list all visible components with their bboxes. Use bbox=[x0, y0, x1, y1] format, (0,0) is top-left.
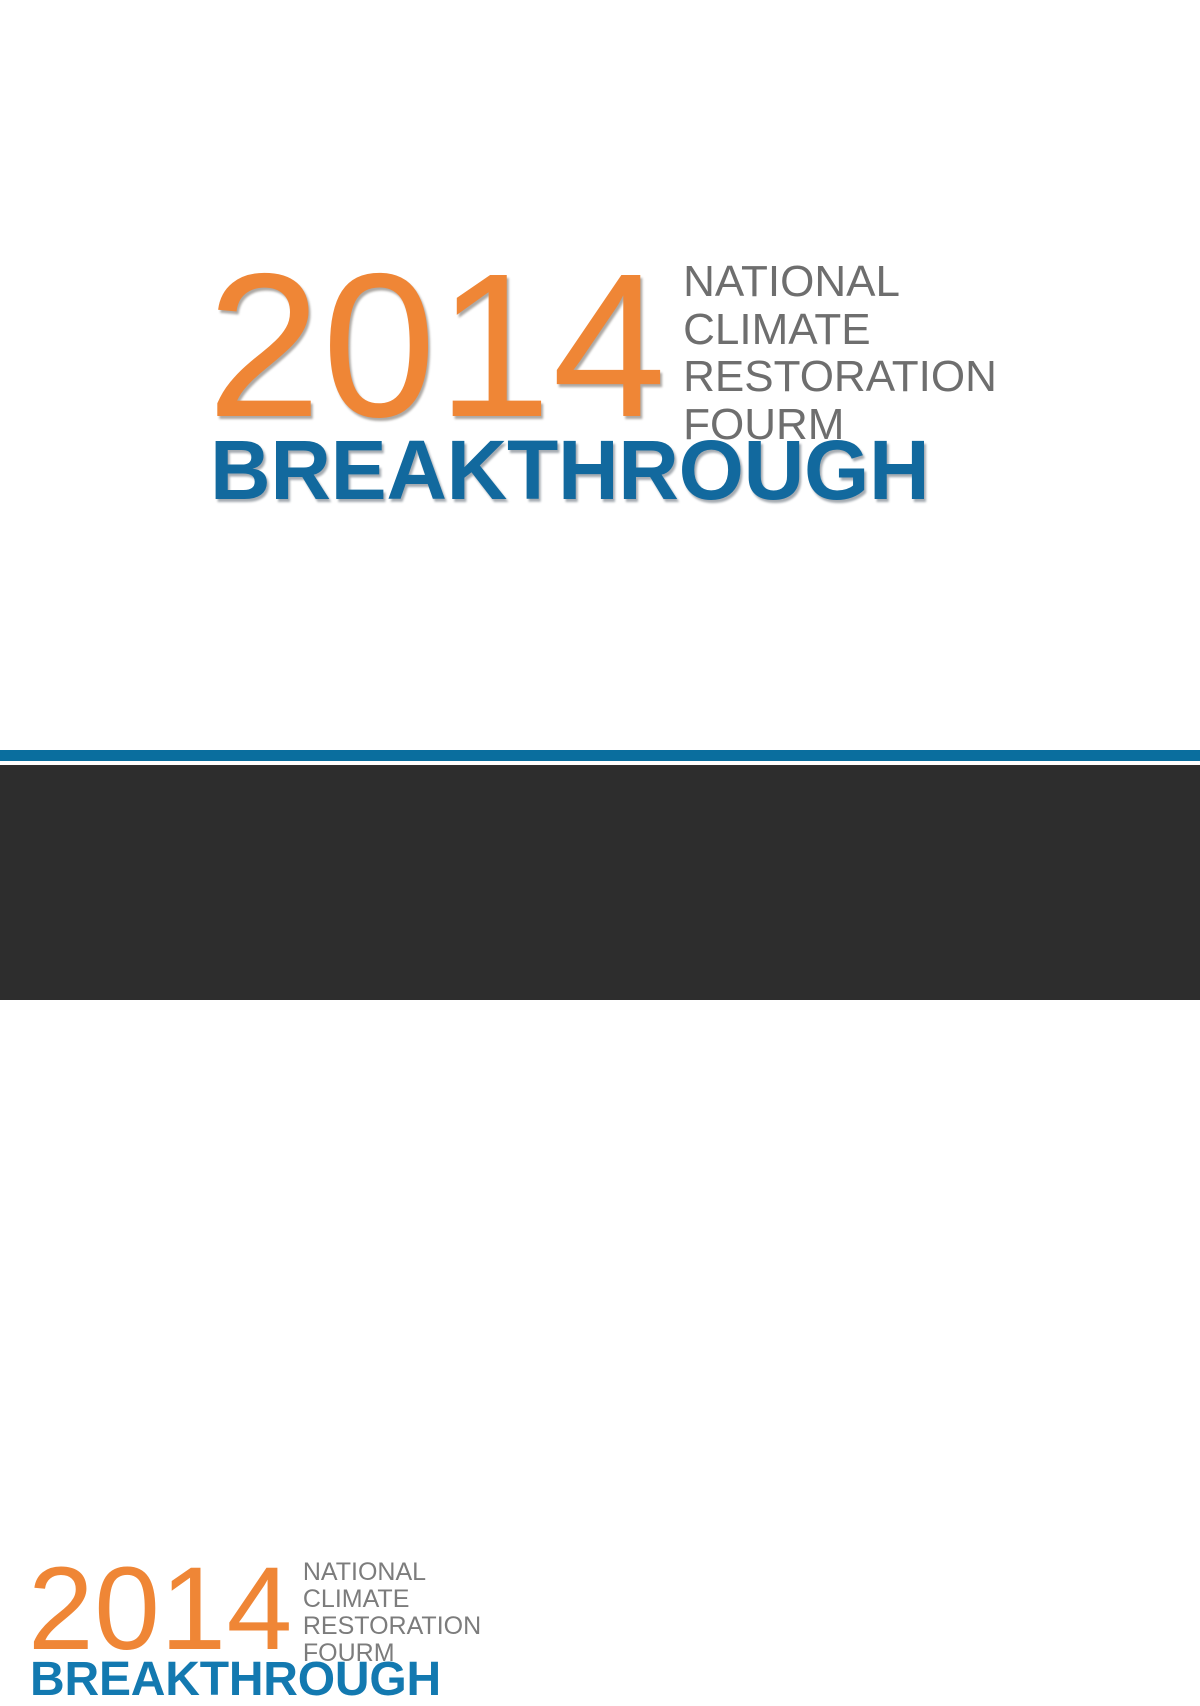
reversed-logo-wordmark: BREAKTHROUGH bbox=[30, 1658, 481, 1701]
primary-logo-lockup: 2014 NATIONAL CLIMATE RESTORATION FOURM … bbox=[207, 252, 997, 509]
reversed-logo-subtitle: NATIONAL CLIMATE RESTORATION FOURM bbox=[303, 1559, 481, 1668]
primary-logo-subtitle-line-3: RESTORATION bbox=[683, 353, 997, 401]
primary-logo-top-row: 2014 NATIONAL CLIMATE RESTORATION FOURM bbox=[207, 252, 997, 449]
primary-logo-subtitle: NATIONAL CLIMATE RESTORATION FOURM bbox=[683, 258, 997, 449]
primary-logo-year: 2014 bbox=[207, 252, 667, 441]
divider-rule bbox=[0, 750, 1200, 761]
primary-logo-wordmark: BREAKTHROUGH bbox=[210, 433, 997, 509]
dark-band: 2014 NATIONAL CLIMATE RESTORATION FOURM … bbox=[0, 765, 1200, 1000]
reversed-logo-subtitle-line-3: RESTORATION bbox=[303, 1613, 481, 1640]
primary-logo-subtitle-line-1: NATIONAL bbox=[683, 258, 997, 306]
reversed-logo-top-row: 2014 NATIONAL CLIMATE RESTORATION FOURM bbox=[28, 1555, 481, 1668]
reversed-logo-year: 2014 bbox=[28, 1555, 293, 1664]
reversed-logo-lockup: 2014 NATIONAL CLIMATE RESTORATION FOURM … bbox=[28, 1555, 481, 1701]
primary-logo-subtitle-line-2: CLIMATE bbox=[683, 306, 997, 354]
reversed-logo-subtitle-line-1: NATIONAL bbox=[303, 1559, 481, 1586]
reversed-logo-subtitle-line-2: CLIMATE bbox=[303, 1586, 481, 1613]
